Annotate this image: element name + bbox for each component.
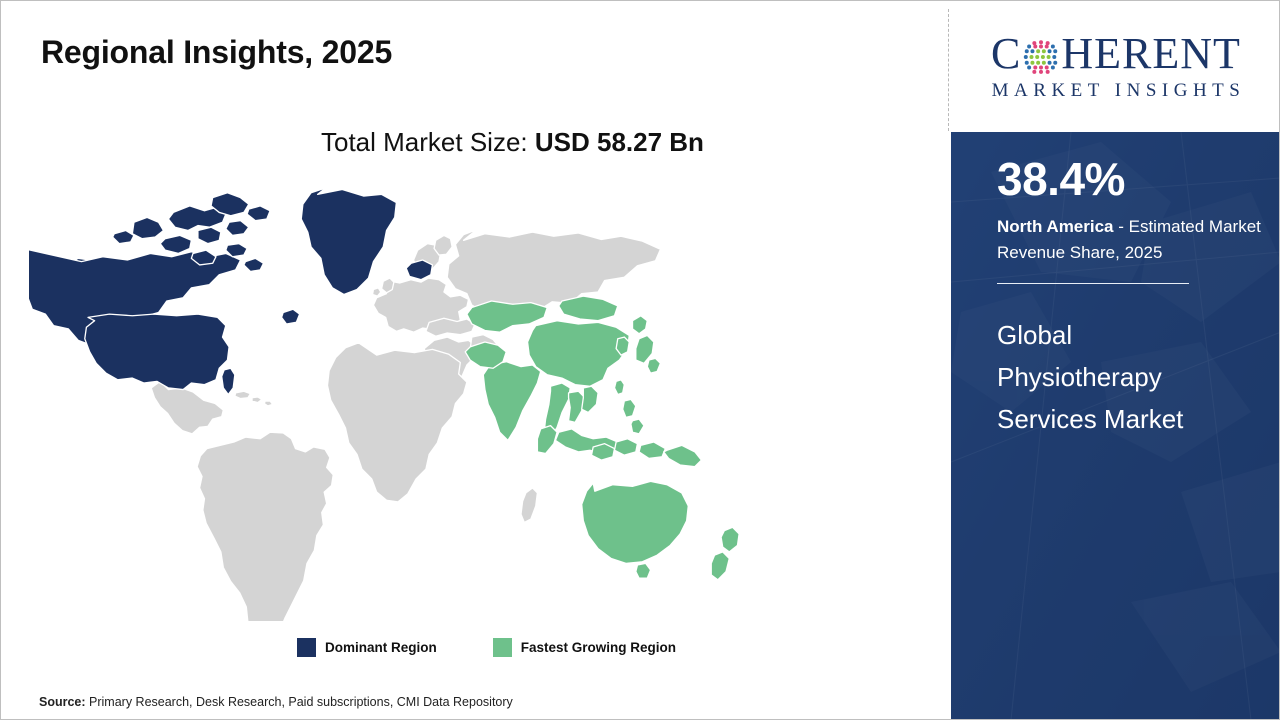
logo-letters-herent: HERENT (1061, 32, 1241, 76)
stat-description: North America - Estimated Market Revenue… (997, 214, 1262, 265)
logo-letter-c: C (991, 32, 1021, 76)
stat-panel-content: 38.4% North America - Estimated Market R… (997, 156, 1263, 440)
page-title: Regional Insights, 2025 (41, 34, 392, 71)
source-label: Source: (39, 695, 86, 709)
world-map-container (29, 186, 849, 621)
logo-subtitle: MARKET INSIGHTS (987, 80, 1246, 102)
stat-region-name: North America (997, 217, 1114, 236)
legend-swatch-fastest-growing (493, 638, 512, 657)
source-note: Source: Primary Research, Desk Research,… (39, 695, 513, 709)
stat-panel: 38.4% North America - Estimated Market R… (951, 132, 1280, 720)
market-name: Global Physiotherapy Services Market (997, 314, 1237, 440)
legend-item-fastest-growing: Fastest Growing Region (493, 638, 676, 657)
stat-value: 38.4% (997, 156, 1263, 202)
brand-logo: C (951, 1, 1280, 132)
legend-item-dominant: Dominant Region (297, 638, 437, 657)
market-size-value: USD 58.27 Bn (535, 127, 704, 157)
market-size-label: Total Market Size: (321, 127, 535, 157)
legend-label-dominant: Dominant Region (325, 640, 437, 655)
legend-label-fastest-growing: Fastest Growing Region (521, 640, 676, 655)
globe-dots-icon (1022, 38, 1060, 76)
map-legend: Dominant Region Fastest Growing Region (297, 638, 676, 657)
map-region-asia-pacific (465, 296, 739, 580)
map-region-rest-of-world (151, 230, 660, 621)
legend-swatch-dominant (297, 638, 316, 657)
source-text: Primary Research, Desk Research, Paid su… (86, 695, 513, 709)
left-content-panel: Regional Insights, 2025 Total Market Siz… (1, 1, 949, 719)
logo-wordmark: C (991, 32, 1241, 76)
vertical-dashed-divider (948, 9, 949, 131)
total-market-size: Total Market Size: USD 58.27 Bn (321, 127, 704, 158)
world-map-svg (29, 186, 849, 621)
stat-divider-rule (997, 283, 1189, 284)
infographic-canvas: Regional Insights, 2025 Total Market Siz… (0, 0, 1280, 720)
